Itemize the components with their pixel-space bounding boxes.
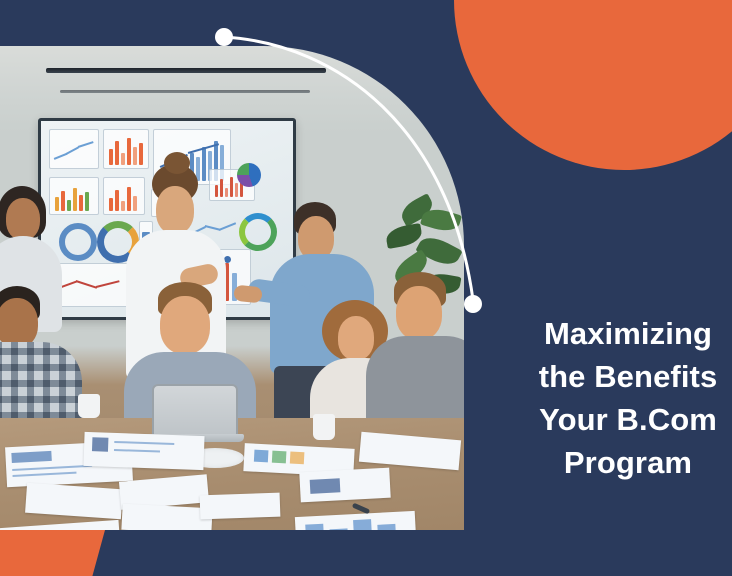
orange-corner-icon xyxy=(0,530,105,576)
document xyxy=(121,504,212,530)
ceiling-light-icon xyxy=(46,68,326,73)
document xyxy=(83,432,204,470)
coffee-mug-icon xyxy=(78,394,100,418)
ceiling-light-icon xyxy=(60,90,310,93)
headline-line-3: Your B.Com xyxy=(478,398,732,441)
chart-card-line xyxy=(49,129,99,169)
headline-line-1: Maximizing xyxy=(478,312,732,355)
document xyxy=(299,468,390,503)
photo-backdrop xyxy=(0,46,464,530)
pie-chart-icon xyxy=(237,163,261,187)
laptop-icon xyxy=(152,384,238,440)
coffee-mug-icon xyxy=(313,414,335,440)
document xyxy=(200,493,281,520)
chart-card-bars-orange xyxy=(103,129,149,169)
headline-line-2: the Benefits xyxy=(478,355,732,398)
donut-chart-icon xyxy=(59,223,97,261)
headline-line-4: Program xyxy=(478,441,732,484)
headline: Maximizing the Benefits Your B.Com Progr… xyxy=(478,312,732,484)
poster-canvas: Maximizing the Benefits Your B.Com Progr… xyxy=(0,0,732,576)
hero-photo xyxy=(0,46,464,530)
